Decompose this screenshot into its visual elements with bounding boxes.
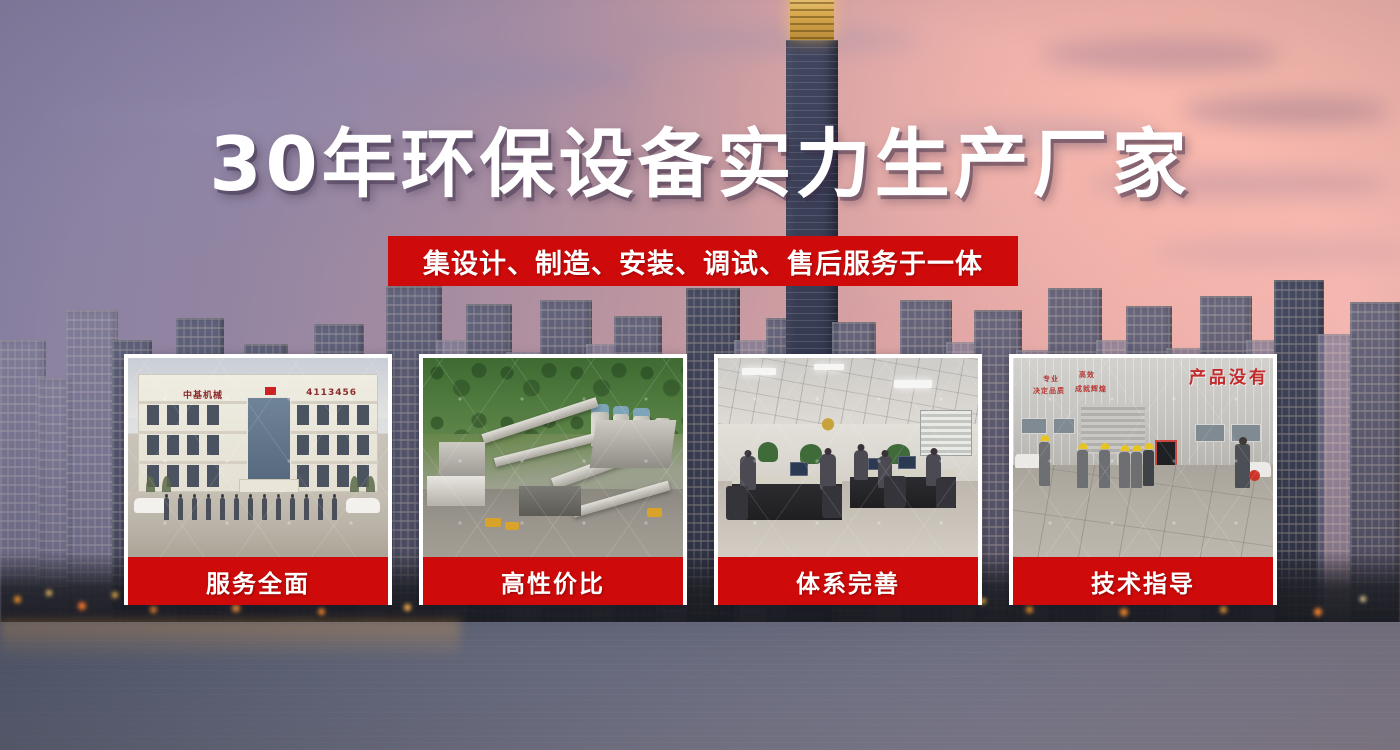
subtitle-text: 集设计、制造、安装、调试、售后服务于一体 xyxy=(423,242,983,281)
card-photo-factory-exterior: 产品没有 专业 高效 决定品质 成就辉煌 xyxy=(1013,358,1273,557)
card-photo-office-building: 中基机械 4113456 xyxy=(128,358,388,557)
card-caption: 高性价比 xyxy=(423,557,683,605)
water-reflection xyxy=(0,620,460,660)
feature-card[interactable]: 高性价比 xyxy=(419,354,687,605)
building-company-sign: 中基机械 xyxy=(183,388,223,401)
promotional-banner: 30年环保设备实力生产厂家 集设计、制造、安装、调试、售后服务于一体 xyxy=(0,0,1400,750)
factory-slogan-3: 决定品质 xyxy=(1033,386,1065,396)
subtitle-banner: 集设计、制造、安装、调试、售后服务于一体 xyxy=(388,236,1018,286)
tower-crown-light xyxy=(790,0,834,40)
factory-slogan-4: 成就辉煌 xyxy=(1075,384,1107,394)
factory-slogan-2: 高效 xyxy=(1079,370,1095,380)
card-photo-office-interior xyxy=(718,358,978,557)
feature-card[interactable]: 产品没有 专业 高效 决定品质 成就辉煌 xyxy=(1009,354,1277,605)
page-title: 30年环保设备实力生产厂家 xyxy=(0,127,1400,202)
card-caption: 体系完善 xyxy=(718,557,978,605)
feature-card[interactable]: 体系完善 xyxy=(714,354,982,605)
card-caption: 服务全面 xyxy=(128,557,388,605)
feature-card-list: 中基机械 4113456 xyxy=(124,354,1278,605)
card-caption: 技术指导 xyxy=(1013,557,1273,605)
card-photo-aerial-plant xyxy=(423,358,683,557)
building-phone-number: 4113456 xyxy=(306,388,357,398)
factory-slogan-1: 专业 xyxy=(1043,374,1059,384)
factory-wall-slogan: 产品没有 xyxy=(1189,363,1269,388)
feature-card[interactable]: 中基机械 4113456 xyxy=(124,354,392,605)
